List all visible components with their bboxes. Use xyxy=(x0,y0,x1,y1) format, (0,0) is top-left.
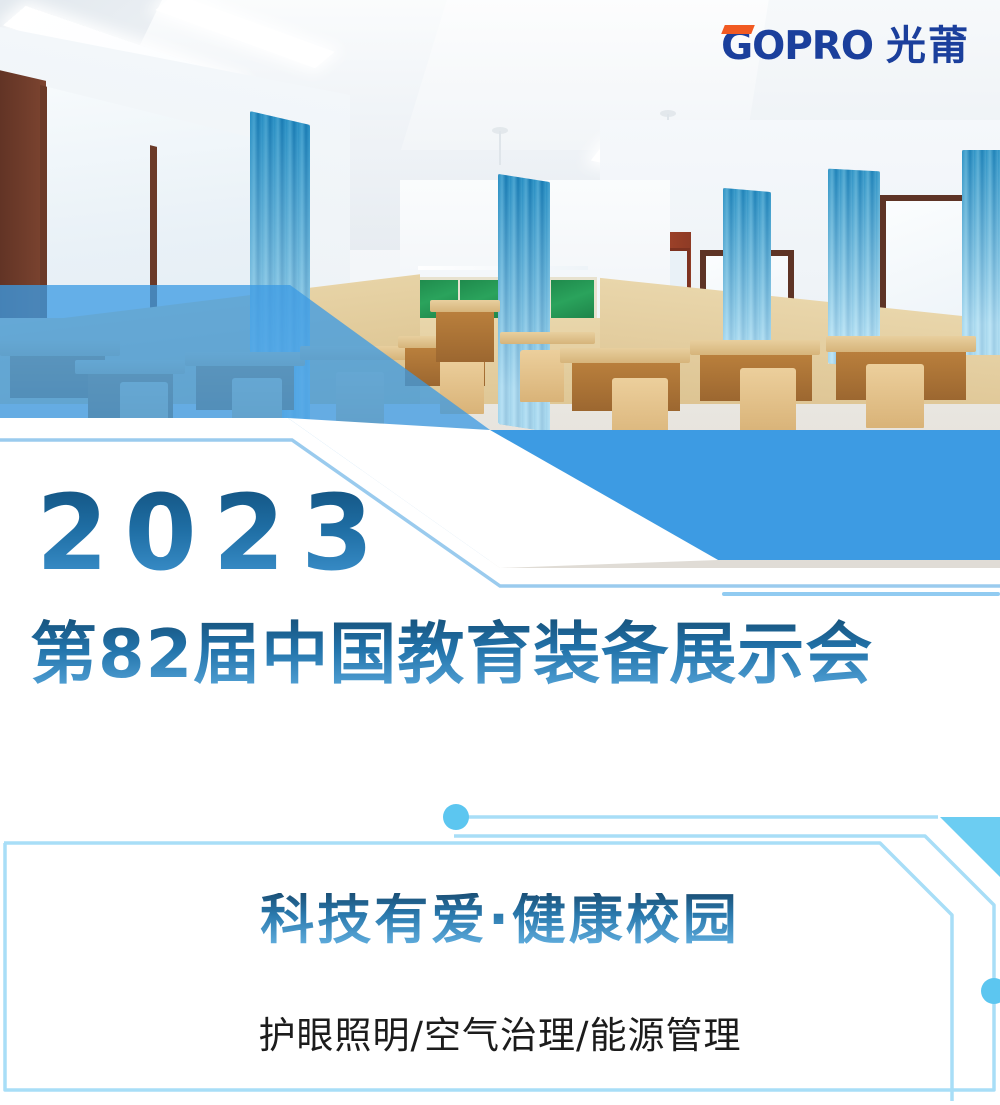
gopro-wordmark: GOPRO xyxy=(721,27,873,66)
brand-logo[interactable]: GOPRO 光莆 xyxy=(721,26,970,66)
panel-subtitle: 护眼照明/空气治理/能源管理 xyxy=(0,1017,1000,1054)
logo-orange-accent-icon xyxy=(721,25,755,34)
hero-title: 第82届中国教育装备展示会 xyxy=(30,618,873,692)
poster-root: GOPRO 光莆 2023 第82届中国教育装备展示会 科技有爱·健康校园 护眼… xyxy=(0,0,1000,1105)
accent-line-lower xyxy=(722,592,1000,596)
bottom-panel: 科技有爱·健康校园 护眼照明/空气治理/能源管理 xyxy=(0,795,1000,1105)
logo-chinese-name: 光莆 xyxy=(886,26,970,66)
hero-year: 2023 xyxy=(36,481,389,585)
panel-title: 科技有爱·健康校园 xyxy=(0,893,1000,947)
